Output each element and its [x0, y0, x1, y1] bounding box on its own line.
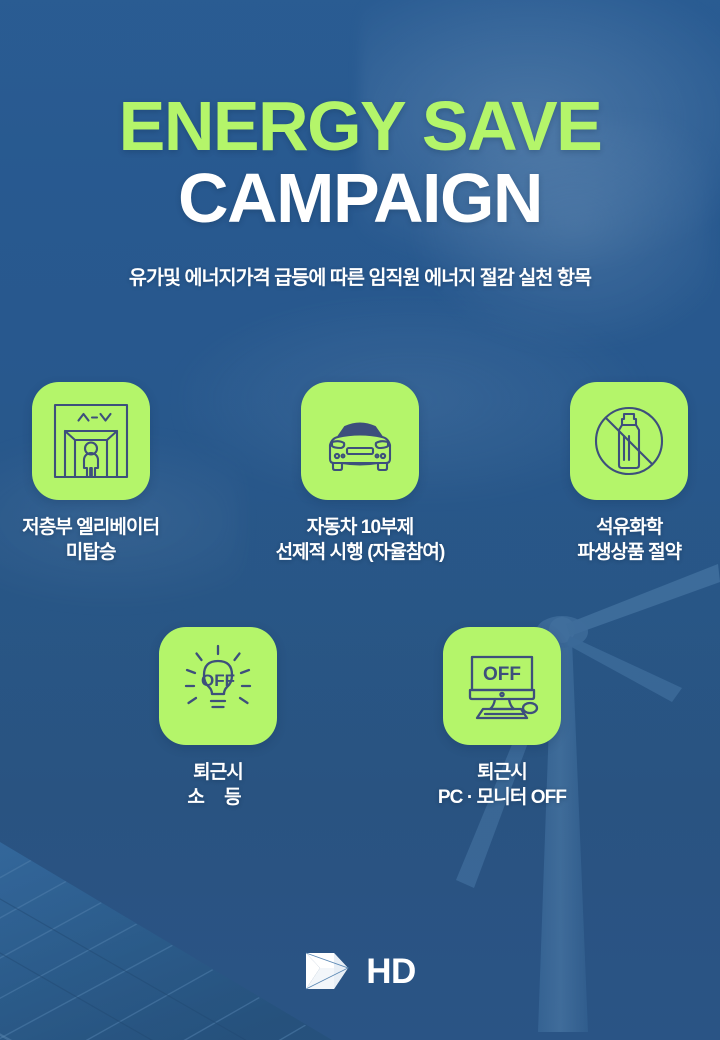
icon-row-1: 저층부 엘리베이터 미탑승: [0, 382, 720, 565]
no-plastic-bottle-icon: [586, 398, 672, 484]
icon-tile: [301, 382, 419, 500]
caption-line-1: 자동차 10부제: [276, 515, 445, 540]
icon-tile: [570, 382, 688, 500]
caption: 퇴근시 소 등: [187, 760, 248, 810]
icon-tile: OFF: [159, 627, 277, 745]
solar-panel-array-icon: [0, 780, 430, 1040]
caption-line-1: 퇴근시: [438, 760, 566, 785]
caption: 저층부 엘리베이터 미탑승: [22, 515, 159, 565]
caption-line-1: 석유화학: [577, 515, 681, 540]
subtitle: 유가및 에너지가격 급등에 따른 임직원 에너지 절감 실천 항목: [0, 261, 720, 290]
campaign-item-pc-monitor-off: OFF 퇴근시 PC · 모니터 OFF: [407, 627, 597, 810]
caption-line-1: 퇴근시: [187, 760, 248, 785]
icon-row-2: OFF 퇴근시 소 등: [0, 627, 720, 810]
lightbulb-off-label: OFF: [201, 671, 235, 690]
icon-tile: [32, 382, 150, 500]
caption-line-2: 파생상품 절약: [577, 540, 681, 565]
campaign-item-car: 자동차 10부제 선제적 시행 (자율참여): [269, 382, 450, 565]
car-front-icon: [317, 398, 403, 484]
monitor-off-label: OFF: [483, 664, 521, 685]
headline-line-1: ENERGY SAVE: [0, 92, 720, 161]
caption: 석유화학 파생상품 절약: [577, 515, 681, 565]
caption-line-2: 미탑승: [22, 540, 159, 565]
lightbulb-off-icon: OFF: [175, 643, 261, 729]
caption: 퇴근시 PC · 모니터 OFF: [438, 760, 566, 810]
campaign-item-lights-off: OFF 퇴근시 소 등: [123, 627, 313, 810]
caption-line-2: PC · 모니터 OFF: [438, 785, 566, 810]
headline-line-2: CAMPAIGN: [0, 161, 720, 235]
campaign-item-petrochemical: 석유화학 파생상품 절약: [539, 382, 720, 565]
poster: ENERGY SAVE CAMPAIGN 유가및 에너지가격 급등에 따른 임직…: [0, 0, 720, 1040]
caption-line-2: 소 등: [187, 785, 248, 810]
caption: 자동차 10부제 선제적 시행 (자율참여): [276, 515, 445, 565]
monitor-off-icon: OFF: [459, 643, 545, 729]
icon-tile: OFF: [443, 627, 561, 745]
caption-line-2: 선제적 시행 (자율참여): [276, 540, 445, 565]
hd-logo-text: HD: [366, 954, 416, 989]
elevator-icon: [48, 398, 134, 484]
campaign-item-elevator: 저층부 엘리베이터 미탑승: [0, 382, 181, 565]
poster-content: ENERGY SAVE CAMPAIGN 유가및 에너지가격 급등에 따른 임직…: [0, 0, 720, 810]
headline-block: ENERGY SAVE CAMPAIGN 유가및 에너지가격 급등에 따른 임직…: [0, 0, 720, 290]
caption-line-1: 저층부 엘리베이터: [22, 515, 159, 540]
hd-chevron-logo-icon: [304, 948, 354, 994]
brand-footer: HD: [0, 948, 720, 994]
